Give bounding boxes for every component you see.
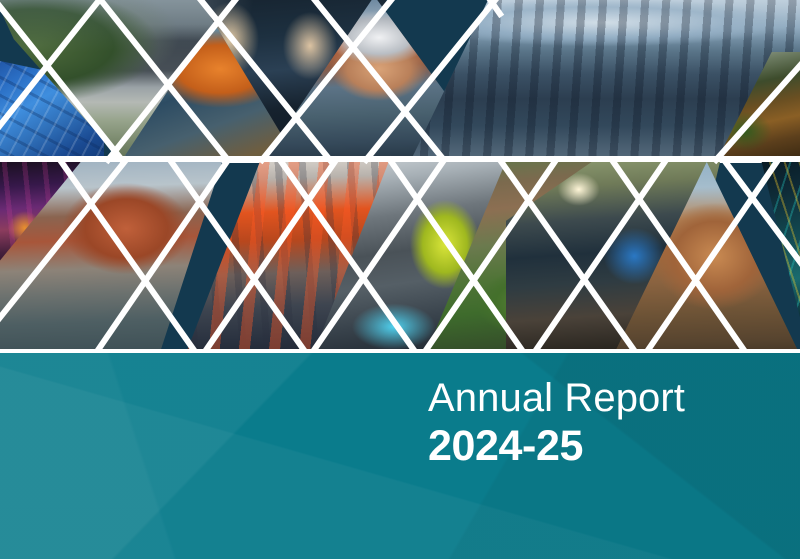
report-year: 2024-25 <box>428 422 778 470</box>
page-title: Annual Report <box>428 376 778 420</box>
photo-collage <box>0 0 800 353</box>
report-cover: Annual Report 2024-25 <box>0 0 800 559</box>
cover-title-block: Annual Report 2024-25 <box>428 376 778 470</box>
collage-divider-lines <box>0 0 800 353</box>
title-band: Annual Report 2024-25 <box>0 353 800 559</box>
